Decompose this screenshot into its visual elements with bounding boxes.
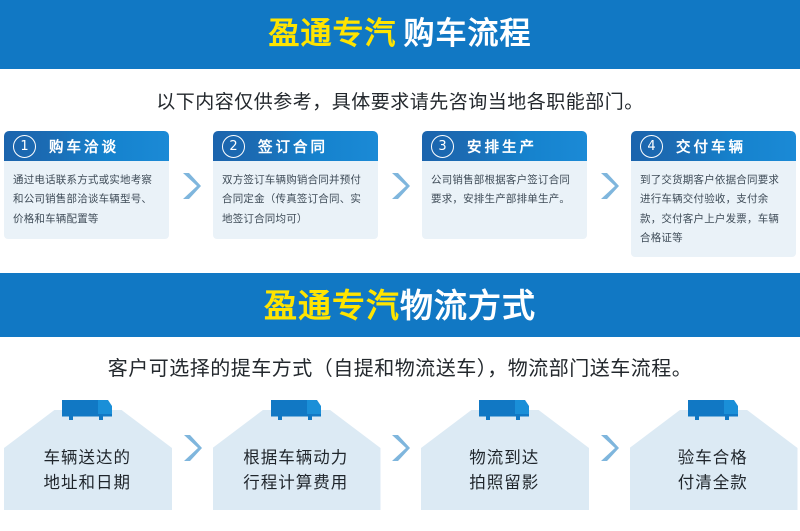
step-arrow-2 [378,131,422,241]
chevron-right-icon [181,171,201,201]
step-body-1: 通过电话联系方式或实地考察和公司销售部洽谈车辆型号、价格和车辆配置等 [4,161,169,239]
purchase-step-card-3[interactable]: 3 安排生产 公司销售部根据客户签订合同要求，安排生产部排单生产。 [422,131,587,239]
logistics-banner-title: 盈通专汽物流方式 [264,289,536,322]
truck-icon [686,395,740,423]
brand-name-purchase: 盈通专汽 [269,16,397,52]
logistics-label-3: 物流到达 拍照留影 [421,445,588,496]
step-body-3: 公司销售部根据客户签订合同要求，安排生产部排单生产。 [422,161,587,239]
logistics-label-4: 验车合格 付清全款 [630,445,797,496]
step-number-badge-1: 1 [13,135,36,158]
step-header-2: 2 签订合同 [213,131,378,161]
step-body-text-2: 双方签订车辆购销合同并预付合同定金（传真签订合同、实地签订合同均可） [222,171,369,229]
logistics-card-3[interactable]: 物流到达 拍照留影 [421,395,588,510]
purchase-title-text: 购车流程 [404,16,532,52]
step-arrow-1 [169,131,213,241]
step-header-1: 1 购车洽谈 [4,131,169,161]
purchase-subtitle-wrap: 以下内容仅供参考，具体要求请先咨询当地各职能部门。 [0,69,800,131]
step-header-3: 3 安排生产 [422,131,587,161]
step-body-4: 到了交货期客户依据合同要求进行车辆交付验收，支付余款，交付客户上户发票，车辆合格… [631,161,796,257]
purchase-step-card-2[interactable]: 2 签订合同 双方签订车辆购销合同并预付合同定金（传真签订合同、实地签订合同均可… [213,131,378,239]
logistics-subtitle: 客户可选择的提车方式（自提和物流送车），物流部门送车流程。 [108,352,693,381]
truck-icon [269,395,323,423]
step-arrow-3 [587,131,631,241]
chevron-right-icon [599,171,619,201]
purchase-step-card-4[interactable]: 4 交付车辆 到了交货期客户依据合同要求进行车辆交付验收，支付余款，交付客户上户… [631,131,796,257]
logistics-card-4[interactable]: 验车合格 付清全款 [630,395,797,510]
logistics-label-4-line2: 付清全款 [630,470,797,496]
logistics-card-2[interactable]: 根据车辆动力 行程计算费用 [213,395,380,510]
logistics-label-1-line2: 地址和日期 [4,470,171,496]
logistics-arrow-2 [379,395,421,510]
step-body-text-1: 通过电话联系方式或实地考察和公司销售部洽谈车辆型号、价格和车辆配置等 [13,171,160,229]
logistics-label-2-line1: 根据车辆动力 [213,445,380,471]
logistics-arrow-3 [588,395,630,510]
logistics-label-1-line1: 车辆送达的 [4,445,171,471]
purchase-banner: 盈通专汽购车流程 [0,0,800,69]
logistics-label-3-line1: 物流到达 [421,445,588,471]
logistics-subtitle-wrap: 客户可选择的提车方式（自提和物流送车），物流部门送车流程。 [0,337,800,395]
chevron-right-icon [390,171,410,201]
purchase-subtitle: 以下内容仅供参考，具体要求请先咨询当地各职能部门。 [156,87,644,114]
step-title-2: 签订合同 [258,136,328,157]
logistics-label-2-line2: 行程计算费用 [213,470,380,496]
step-title-1: 购车洽谈 [49,136,119,157]
step-header-4: 4 交付车辆 [631,131,796,161]
logistics-label-3-line2: 拍照留影 [421,470,588,496]
logistics-label-4-line1: 验车合格 [630,445,797,471]
step-body-text-3: 公司销售部根据客户签订合同要求，安排生产部排单生产。 [431,171,578,210]
step-title-4: 交付车辆 [676,136,746,157]
step-number-badge-2: 2 [222,135,245,158]
logistics-arrow-1 [171,395,213,510]
step-body-text-4: 到了交货期客户依据合同要求进行车辆交付验收，支付余款，交付客户上户发票，车辆合格… [640,171,787,249]
logistics-label-1: 车辆送达的 地址和日期 [4,445,171,496]
logistics-card-1[interactable]: 车辆送达的 地址和日期 [4,395,171,510]
step-number-badge-4: 4 [640,135,663,158]
truck-icon [477,395,531,423]
chevron-right-icon [390,433,410,463]
step-number-badge-3: 3 [431,135,454,158]
step-title-3: 安排生产 [467,136,537,157]
step-body-2: 双方签订车辆购销合同并预付合同定金（传真签订合同、实地签订合同均可） [213,161,378,239]
logistics-label-2: 根据车辆动力 行程计算费用 [213,445,380,496]
purchase-banner-title: 盈通专汽购车流程 [269,19,532,50]
logistics-title-text: 物流方式 [400,286,536,325]
brand-name-logistics: 盈通专汽 [264,286,400,325]
logistics-banner: 盈通专汽物流方式 [0,273,800,337]
chevron-right-icon [182,433,202,463]
logistics-items-row: 车辆送达的 地址和日期 根据车辆动力 行程计算费用 [0,395,800,510]
truck-icon [60,395,114,423]
purchase-step-card-1[interactable]: 1 购车洽谈 通过电话联系方式或实地考察和公司销售部洽谈车辆型号、价格和车辆配置… [4,131,169,239]
chevron-right-icon [599,433,619,463]
purchase-steps-row: 1 购车洽谈 通过电话联系方式或实地考察和公司销售部洽谈车辆型号、价格和车辆配置… [0,131,800,241]
